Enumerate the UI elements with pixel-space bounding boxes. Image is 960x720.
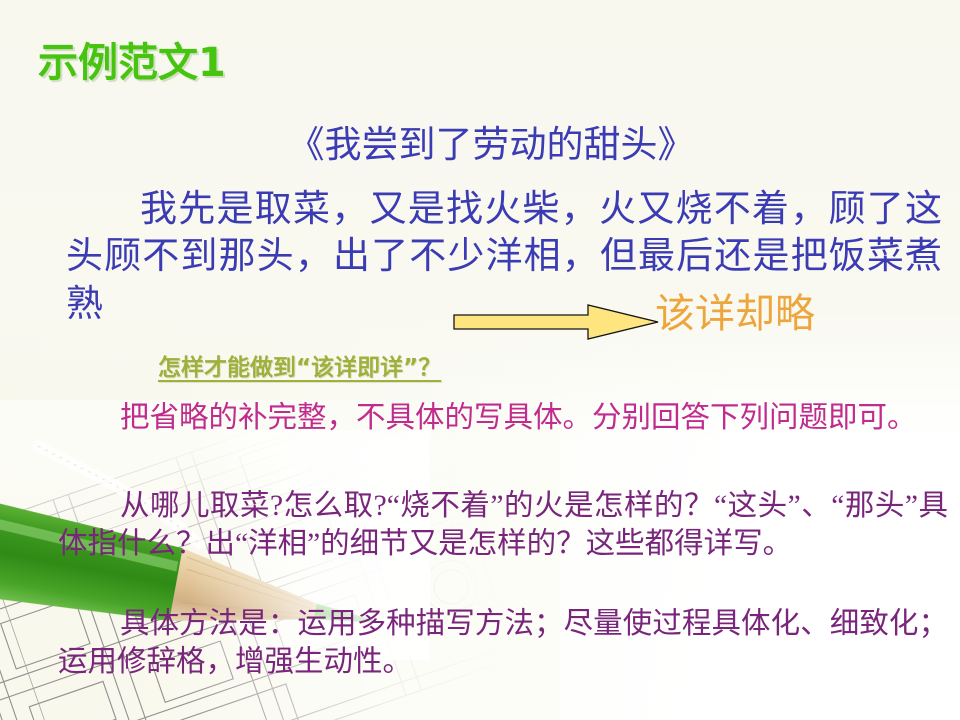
right-arrow-icon	[452, 302, 660, 342]
slide-content: 示例范文1 《我尝到了劳动的甜头》 我先是取菜，又是找火柴，火又烧不着，顾了这头…	[0, 0, 960, 720]
paragraph-3: 具体方法是：运用多种描写方法；尽量使过程具体化、细致化；运用修辞格，增强生动性。	[58, 605, 948, 682]
page-title: 示例范文1	[38, 42, 226, 84]
paragraph-1: 把省略的补完整，不具体的写具体。分别回答下列问题即可。	[58, 399, 948, 437]
callout-text: 该详却略	[655, 292, 815, 336]
section-heading: 怎样才能做到“该详即详”？	[158, 355, 441, 381]
essay-title: 《我尝到了劳动的甜头》	[0, 124, 960, 168]
slide-canvas: kuzienka 3,55 m2 4/6	[0, 0, 960, 720]
paragraph-2: 从哪儿取菜?怎么取?“烧不着”的火是怎样的？“这头”、“那头”具体指什么？出“洋…	[58, 487, 948, 564]
